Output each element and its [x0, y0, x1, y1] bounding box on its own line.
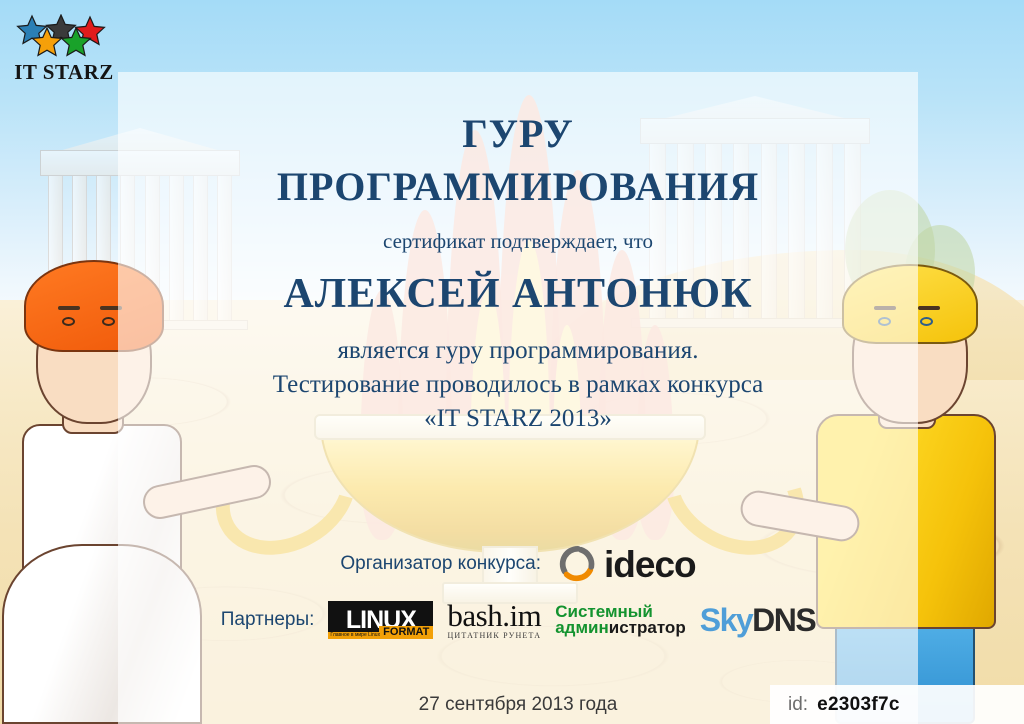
organizer-row: Организатор конкурса: ideco: [118, 545, 918, 583]
id-badge: id: e2303f7c: [770, 685, 1024, 724]
organizer-label: Организатор конкурса:: [340, 553, 541, 575]
stars-icon: [14, 14, 114, 60]
sysadmin-line2: администратор: [555, 620, 686, 636]
sysadmin-line2-green: админ: [555, 618, 609, 637]
ideco-logo-text: ideco: [604, 546, 696, 583]
id-badge-value: e2303f7c: [817, 694, 900, 716]
it-starz-logo-text: IT STARZ: [14, 60, 114, 85]
certificate-body-line1: является гуру программирования.: [118, 334, 918, 367]
bash-im-tagline: ЦИТАТНИК РУНЕТА: [447, 632, 541, 640]
certificate-subtitle: сертификат подтверждает, что: [118, 229, 918, 254]
skydns-part2: DNS: [752, 602, 815, 638]
it-starz-logo: IT STARZ: [14, 14, 114, 92]
certificate-title-line1: ГУРУ: [118, 114, 918, 154]
sysadmin-line2-dark: истратор: [609, 618, 686, 637]
linux-format-tagline: Главное в мире Linux: [328, 632, 382, 639]
skydns-part1: Sky: [700, 602, 752, 638]
partner-logo-skydns: SkyDNS: [700, 604, 816, 636]
bash-im-word: bash.im: [447, 600, 541, 631]
ideco-logo: ideco: [559, 545, 696, 583]
certificate-title-line2: ПРОГРАММИРОВАНИЯ: [118, 167, 918, 207]
partners-row: Партнеры: LINUX FORMAT Главное в мире Li…: [118, 600, 918, 640]
partner-logo-sistemnyy-administrator: Системный администратор: [555, 604, 686, 636]
recipient-name: АЛЕКСЕЙ АНТОНЮК: [118, 270, 918, 318]
certificate-content: ГУРУ ПРОГРАММИРОВАНИЯ сертификат подтвер…: [118, 72, 918, 724]
partner-logo-bash-im: bash.im ЦИТАТНИК РУНЕТА: [447, 600, 541, 640]
partner-logo-linux-format: LINUX FORMAT Главное в мире Linux: [328, 601, 433, 639]
certificate-body-line2: Тестирование проводилось в рамках конкур…: [118, 368, 918, 401]
certificate-body-line3: «IT STARZ 2013»: [118, 402, 918, 435]
ideco-swirl-icon: [559, 545, 597, 583]
id-badge-label: id:: [788, 694, 808, 716]
linux-format-badge: FORMAT: [379, 626, 433, 639]
partners-label: Партнеры:: [221, 609, 315, 631]
certificate-canvas: IT STARZ ГУРУ ПРОГРАММИРОВАНИЯ сертифика…: [0, 0, 1024, 724]
